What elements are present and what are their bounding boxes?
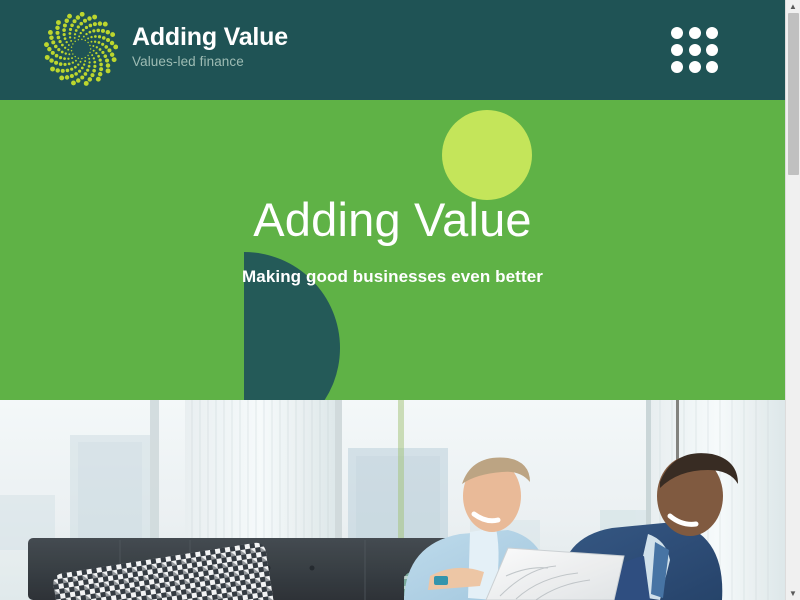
site-header: Adding Value Values-led finance bbox=[0, 0, 785, 100]
brand-logo-link[interactable]: Adding Value Values-led finance bbox=[44, 12, 288, 86]
logo-dot bbox=[98, 21, 102, 25]
logo-dot bbox=[72, 61, 74, 63]
logo-dot bbox=[93, 57, 95, 59]
logo-dot bbox=[83, 63, 85, 65]
logo-dot bbox=[74, 72, 78, 76]
logo-dot bbox=[101, 29, 105, 33]
logo-dot bbox=[87, 42, 88, 43]
hero-title: Adding Value bbox=[253, 194, 532, 246]
logo-dot bbox=[90, 36, 92, 38]
logo-dot bbox=[66, 69, 70, 73]
logo-dot bbox=[98, 41, 101, 44]
logo-dot bbox=[56, 20, 61, 25]
logo-dot bbox=[59, 75, 64, 80]
logo-dot bbox=[86, 69, 89, 72]
logo-dot bbox=[80, 61, 82, 63]
logo-dot bbox=[104, 54, 108, 58]
logo-dot bbox=[89, 45, 90, 46]
logo-dot bbox=[99, 59, 102, 62]
logo-dot bbox=[80, 75, 84, 79]
logo-dot bbox=[61, 69, 65, 73]
logo-dot bbox=[67, 49, 69, 51]
logo-dot bbox=[98, 72, 102, 76]
brand-text: Adding Value Values-led finance bbox=[132, 24, 288, 74]
logo-dot bbox=[91, 41, 93, 43]
grid-dot bbox=[706, 61, 718, 73]
logo-dot bbox=[88, 77, 92, 81]
logo-dot bbox=[74, 37, 76, 39]
logo-dot bbox=[64, 37, 67, 40]
logo-dot bbox=[77, 64, 79, 66]
logo-dot bbox=[48, 30, 53, 35]
logo-dot bbox=[44, 42, 49, 47]
logo-dot bbox=[110, 52, 114, 56]
logo-dot bbox=[70, 74, 74, 78]
logo-dot bbox=[81, 39, 82, 40]
logo-dot bbox=[106, 38, 110, 42]
scroll-down-button[interactable]: ▼ bbox=[786, 587, 800, 600]
logo-dot bbox=[74, 56, 75, 57]
logo-dot bbox=[92, 45, 94, 47]
logo-dot bbox=[49, 58, 53, 62]
logo-dot bbox=[56, 31, 60, 35]
caret-up-icon: ▲ bbox=[789, 3, 797, 11]
logo-dot bbox=[63, 57, 66, 60]
logo-dot bbox=[96, 77, 101, 82]
logo-dot bbox=[110, 41, 114, 45]
hero-photo bbox=[0, 400, 785, 600]
logo-dot bbox=[71, 81, 76, 86]
grid-dot bbox=[706, 44, 718, 56]
hero-copy: Adding Value Making good businesses even… bbox=[0, 100, 785, 400]
logo-dot bbox=[49, 36, 53, 40]
grid-menu-icon bbox=[671, 27, 719, 73]
logo-dot bbox=[71, 50, 72, 51]
logo-dot bbox=[113, 45, 118, 50]
page-viewport: Adding Value Values-led finance bbox=[0, 0, 785, 600]
logo-dot bbox=[88, 65, 91, 68]
grid-dot bbox=[706, 27, 718, 39]
logo-dot bbox=[77, 25, 80, 28]
logo-dot bbox=[84, 81, 89, 86]
logo-dot bbox=[58, 40, 61, 43]
logo-dot bbox=[99, 67, 103, 71]
logo-dot bbox=[87, 37, 89, 39]
logo-dot bbox=[104, 45, 108, 49]
logo-dot bbox=[72, 43, 73, 44]
logo-dot bbox=[94, 41, 96, 43]
logo-dot bbox=[75, 60, 77, 62]
logo-dot bbox=[70, 68, 73, 71]
logo-dot bbox=[56, 68, 60, 72]
logo-dot bbox=[81, 58, 82, 59]
logo-dot bbox=[65, 19, 69, 23]
logo-dot bbox=[93, 65, 96, 68]
logo-dot bbox=[91, 54, 93, 56]
logo-dot bbox=[82, 29, 85, 32]
logo-dot bbox=[93, 50, 95, 52]
logo-dot bbox=[65, 75, 69, 79]
logo-dot bbox=[67, 58, 69, 60]
logo-dot bbox=[81, 67, 84, 70]
logo-dot bbox=[69, 32, 72, 35]
logo-dot bbox=[85, 26, 88, 29]
logo-dot bbox=[96, 29, 100, 33]
logo-dot bbox=[106, 63, 110, 67]
caret-down-icon: ▼ bbox=[789, 590, 797, 598]
logo-dot bbox=[76, 78, 80, 82]
grid-dot bbox=[689, 27, 701, 39]
logo-dot bbox=[92, 15, 97, 20]
office-meeting-photo bbox=[0, 400, 785, 600]
logo-dot bbox=[101, 51, 104, 54]
logo-dot bbox=[93, 22, 97, 26]
logo-dot bbox=[68, 44, 70, 46]
logo-dot bbox=[78, 70, 81, 73]
grid-dot bbox=[671, 61, 683, 73]
logo-dot bbox=[97, 55, 100, 58]
logo-dot bbox=[71, 57, 73, 59]
logo-dot bbox=[70, 23, 74, 27]
logo-dot bbox=[63, 33, 66, 36]
logo-dot bbox=[95, 52, 97, 54]
logo-dot bbox=[87, 16, 91, 20]
logo-dot bbox=[54, 45, 58, 49]
logo-dot bbox=[73, 19, 77, 23]
logo-dot bbox=[61, 51, 64, 54]
logo-dot bbox=[103, 22, 108, 27]
logo-dot bbox=[83, 36, 85, 38]
logo-dot bbox=[65, 41, 67, 43]
logo-dot bbox=[87, 55, 88, 56]
logo-dot bbox=[78, 58, 79, 59]
logo-dot bbox=[57, 48, 60, 51]
logo-dot bbox=[93, 61, 96, 64]
logo-dot bbox=[85, 33, 87, 35]
logo-dot bbox=[85, 57, 86, 58]
logo-dot bbox=[55, 54, 59, 58]
spiral-dots-logo-icon bbox=[44, 12, 118, 86]
logo-dot bbox=[88, 61, 90, 63]
logo-dot bbox=[68, 63, 71, 66]
logo-dot bbox=[80, 12, 85, 17]
logo-dot bbox=[70, 40, 72, 42]
logo-dot bbox=[45, 55, 50, 60]
logo-dot bbox=[90, 73, 94, 77]
logo-dot bbox=[106, 68, 111, 73]
logo-dot bbox=[110, 32, 115, 37]
scroll-up-button[interactable]: ▲ bbox=[786, 0, 800, 13]
logo-dot bbox=[106, 30, 110, 34]
logo-dot bbox=[68, 53, 70, 55]
logo-dot bbox=[84, 60, 86, 62]
logo-dot bbox=[99, 63, 103, 67]
logo-dot bbox=[51, 40, 55, 44]
logo-dot bbox=[101, 43, 104, 46]
logo-dot bbox=[76, 15, 80, 19]
logo-dot bbox=[88, 58, 90, 60]
logo-dot bbox=[80, 32, 82, 34]
logo-dot bbox=[55, 26, 59, 30]
grid-dot bbox=[671, 44, 683, 56]
logo-dot bbox=[92, 69, 96, 73]
logo-dot bbox=[90, 48, 91, 49]
logo-dot bbox=[74, 33, 76, 35]
logo-dot bbox=[112, 57, 117, 62]
logo-dot bbox=[63, 63, 66, 66]
logo-dot bbox=[107, 48, 111, 52]
logo-dot bbox=[75, 29, 78, 32]
logo-dot bbox=[72, 53, 73, 54]
grid-dot bbox=[689, 44, 701, 56]
logo-dot bbox=[47, 47, 51, 51]
logo-dot bbox=[74, 41, 75, 42]
grid-dot bbox=[689, 61, 701, 73]
logo-dot bbox=[57, 36, 61, 40]
logo-dot bbox=[89, 31, 92, 34]
logo-dot bbox=[51, 51, 55, 55]
logo-dot bbox=[62, 28, 66, 32]
logo-dot bbox=[50, 67, 55, 72]
logo-dot bbox=[79, 22, 83, 26]
logo-dot bbox=[89, 24, 93, 28]
brand-tagline: Values-led finance bbox=[132, 52, 288, 72]
logo-dot bbox=[61, 44, 64, 47]
browser-page: Adding Value Values-led finance bbox=[0, 0, 800, 600]
logo-dot bbox=[54, 61, 58, 65]
logo-dot bbox=[65, 52, 67, 54]
logo-dot bbox=[63, 23, 67, 27]
logo-dot bbox=[78, 39, 79, 40]
logo-dot bbox=[74, 66, 77, 69]
hero-banner: Adding Value Making good businesses even… bbox=[0, 100, 785, 400]
logo-dot bbox=[59, 62, 63, 66]
brand-name: Adding Value bbox=[132, 24, 288, 52]
logo-dot bbox=[105, 59, 109, 63]
logo-dot bbox=[89, 52, 90, 53]
hero-subtitle: Making good businesses even better bbox=[242, 267, 543, 287]
logo-dot bbox=[99, 48, 102, 51]
grid-dot bbox=[671, 27, 683, 39]
logo-dot bbox=[64, 47, 66, 49]
grid-menu-button[interactable] bbox=[671, 27, 719, 73]
logo-dot bbox=[83, 19, 87, 23]
logo-dot bbox=[78, 35, 80, 37]
vertical-scrollbar[interactable]: ▲ ▼ bbox=[785, 0, 800, 600]
logo-dot bbox=[94, 35, 97, 38]
scrollbar-thumb[interactable] bbox=[788, 13, 799, 175]
logo-dot bbox=[71, 46, 72, 47]
logo-dot bbox=[84, 72, 88, 76]
logo-dot bbox=[59, 56, 62, 59]
logo-dot bbox=[96, 46, 98, 48]
logo-dot bbox=[85, 40, 86, 41]
logo-dot bbox=[92, 29, 95, 32]
logo-dot bbox=[69, 28, 72, 31]
logo-dot bbox=[69, 36, 71, 38]
logo-dot bbox=[102, 36, 106, 40]
logo-dot bbox=[98, 35, 101, 38]
logo-dot bbox=[67, 14, 72, 19]
